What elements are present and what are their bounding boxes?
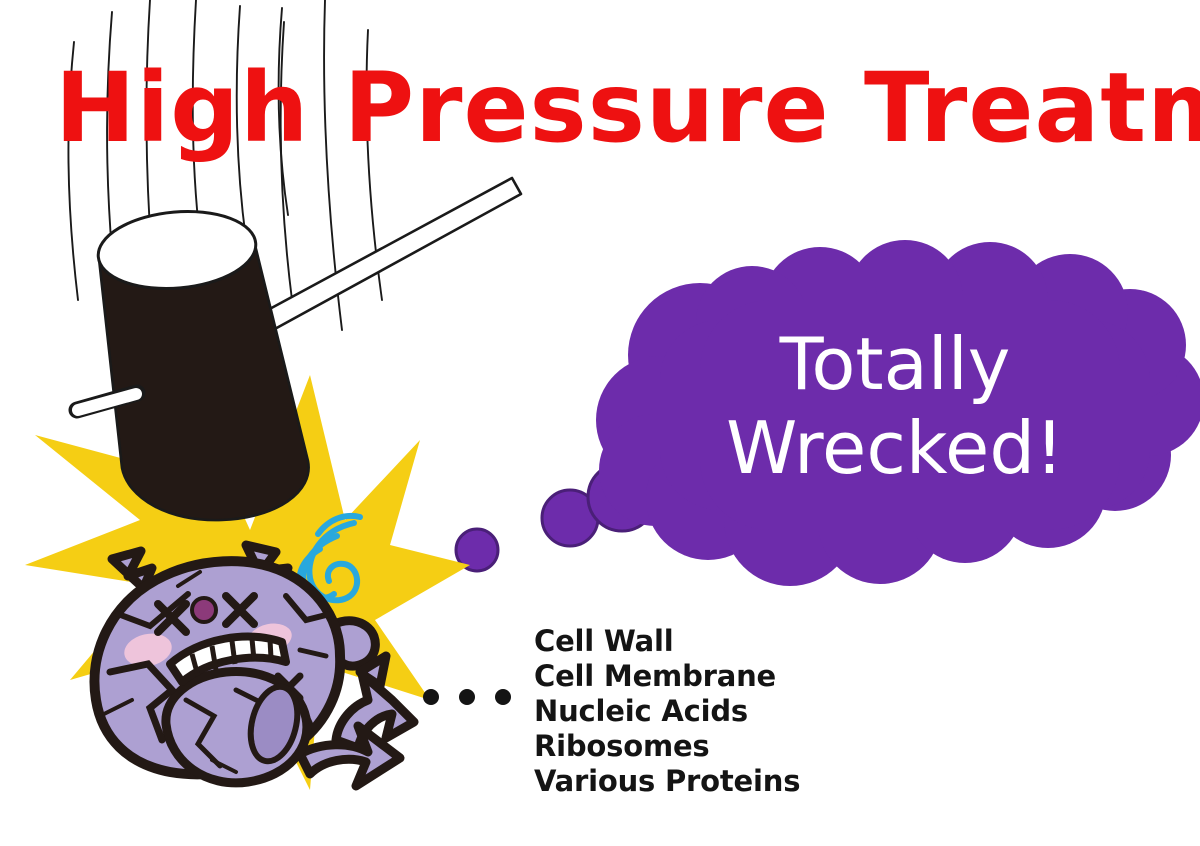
mallet-head xyxy=(95,205,309,520)
mallet xyxy=(77,178,521,520)
thought-bubble xyxy=(386,240,1200,592)
bacterium-body xyxy=(94,561,340,783)
list-item: Various Proteins xyxy=(534,764,800,799)
illustration-page: High Pressure Treatment Totally Wrecked!… xyxy=(0,0,1200,846)
bubble-cloud-body xyxy=(596,240,1200,586)
list-item: Cell Wall xyxy=(534,624,800,659)
list-item: Nucleic Acids xyxy=(534,694,800,729)
list-item: Ribosomes xyxy=(534,729,800,764)
list-item: Cell Membrane xyxy=(534,659,800,694)
leader-dots xyxy=(423,689,511,705)
destroyed-components-list: Cell Wall Cell Membrane Nucleic Acids Ri… xyxy=(534,624,800,799)
mallet-handle xyxy=(253,178,521,336)
bacterium-spot xyxy=(192,598,216,622)
